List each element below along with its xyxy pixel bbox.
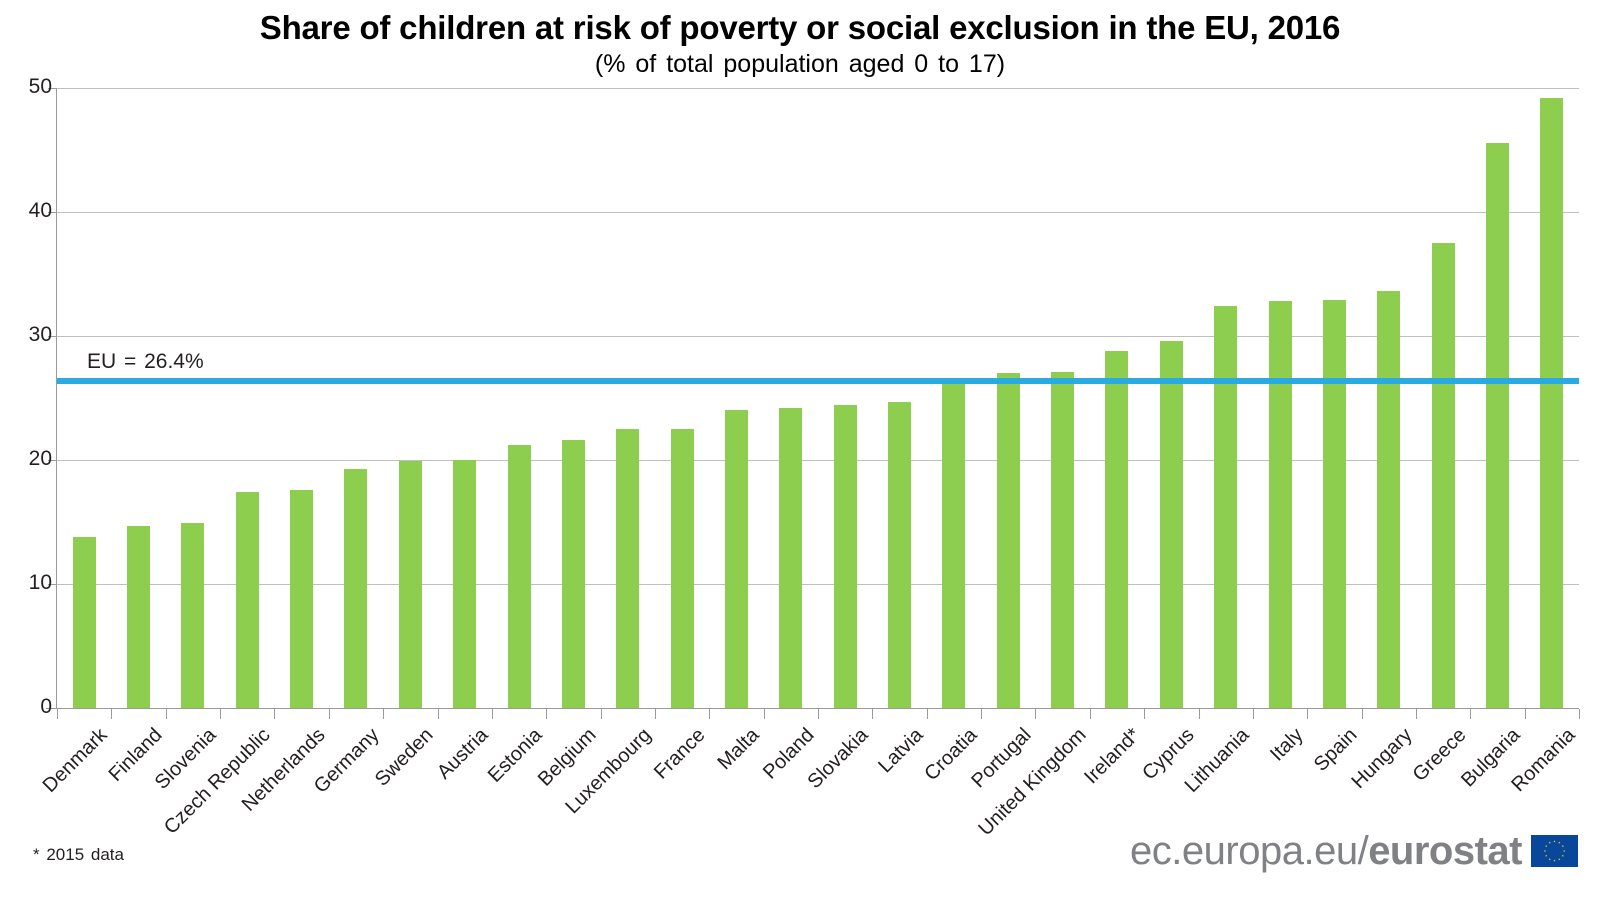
y-tick-label: 40 [6,199,52,223]
bar-poland[interactable] [779,408,802,708]
x-axis-label-ireland: Ireland* [1080,724,1145,789]
bar-latvia[interactable] [888,402,911,708]
bar-bulgaria[interactable] [1486,143,1509,708]
eurostat-logo: ec.europa.eu/eurostat [1130,827,1578,875]
bar-romania[interactable] [1540,98,1563,708]
x-axis-label-denmark: Denmark [39,724,113,798]
bar-finland[interactable] [127,526,150,708]
page-title: Share of children at risk of poverty or … [0,8,1600,48]
y-tick-label: 10 [6,571,52,595]
gridline [57,460,1579,461]
bar-greece[interactable] [1432,243,1455,708]
eu-average-reference-line [57,378,1579,384]
bar-hungary[interactable] [1377,291,1400,708]
x-axis-labels: DenmarkFinlandSloveniaCzech RepublicNeth… [0,708,1600,838]
bar-slovenia[interactable] [181,523,204,708]
y-tick-label: 20 [6,447,52,471]
bar-portugal[interactable] [997,373,1020,708]
gridline [57,88,1579,89]
eu-average-label: EU = 26.4% [87,350,204,374]
plot-area [57,88,1579,708]
y-axis-ticks: 01020304050 [0,88,52,708]
bar-croatia[interactable] [942,381,965,708]
x-axis-label-austria: Austria [433,724,493,784]
eurostat-wordmark: ec.europa.eu/eurostat [1130,829,1522,873]
x-axis-label-italy: Italy [1266,724,1308,766]
bar-belgium[interactable] [562,440,585,708]
gridline [57,336,1579,337]
bar-italy[interactable] [1269,301,1292,708]
chart-subtitle: (% of total population aged 0 to 17) [0,48,1600,80]
logo-brand-text: eurostat [1368,829,1522,873]
x-axis-label-france: France [650,724,710,784]
bar-netherlands[interactable] [290,490,313,708]
bar-austria[interactable] [453,460,476,708]
logo-domain-text: ec.europa.eu/ [1130,829,1368,873]
x-axis-label-malta: Malta [714,724,765,775]
y-tick-label: 30 [6,323,52,347]
bar-estonia[interactable] [508,445,531,708]
bar-ireland[interactable] [1105,351,1128,708]
x-axis-label-latvia: Latvia [874,724,928,778]
footnote: * 2015 data [33,845,124,865]
bar-spain[interactable] [1323,300,1346,708]
bar-france[interactable] [671,429,694,708]
x-axis-label-hungary: Hungary [1347,724,1417,794]
y-tick-label: 50 [6,75,52,99]
bar-sweden[interactable] [399,461,422,708]
gridline [57,584,1579,585]
x-axis-label-sweden: Sweden [371,724,438,791]
bar-lithuania[interactable] [1214,306,1237,708]
bar-germany[interactable] [344,469,367,708]
bar-united-kingdom[interactable] [1051,372,1074,708]
eu-flag-icon [1531,835,1578,867]
bar-slovakia[interactable] [834,405,857,708]
bar-luxembourg[interactable] [616,429,639,708]
bar-cyprus[interactable] [1160,341,1183,708]
bar-czech-republic[interactable] [236,492,259,708]
bar-denmark[interactable] [73,537,96,708]
title-block: Share of children at risk of poverty or … [0,8,1600,80]
gridline [57,212,1579,213]
bar-malta[interactable] [725,410,748,708]
